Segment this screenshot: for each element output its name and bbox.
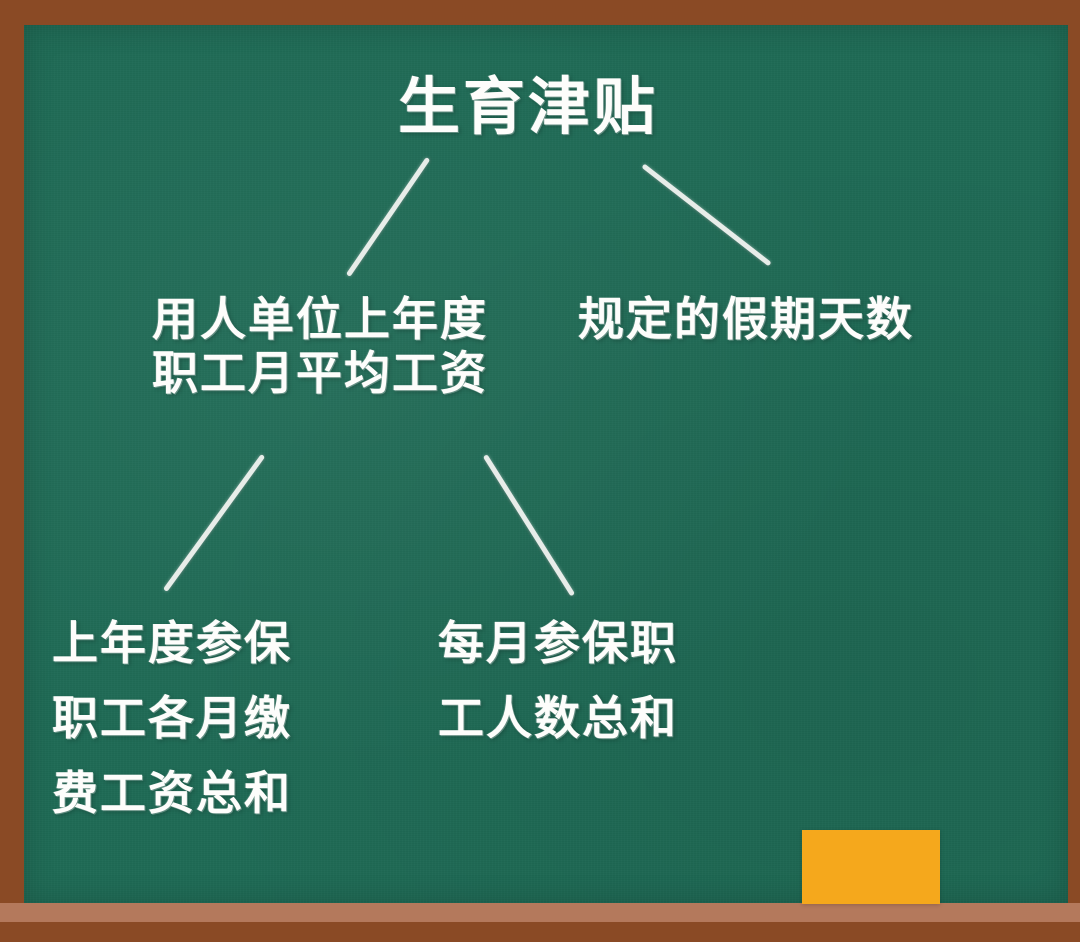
node-right-top-line1: 规定的假期天数 — [578, 292, 914, 346]
node-left-bottom: 上年度参保 职工各月缴 费工资总和 — [52, 606, 292, 831]
node-left-bottom-line1: 上年度参保 — [52, 606, 292, 681]
node-right-bottom-line1: 每月参保职 — [438, 606, 678, 681]
page-title: 生育津贴 — [398, 72, 658, 142]
node-left-top-line1: 用人单位上年度 — [152, 292, 488, 346]
node-right-top: 规定的假期天数 — [578, 292, 914, 346]
node-right-bottom-line2: 工人数总和 — [438, 681, 678, 756]
node-right-bottom: 每月参保职 工人数总和 — [438, 606, 678, 756]
node-left-top-line2: 职工月平均工资 — [152, 346, 488, 400]
chalk-tray — [0, 903, 1080, 922]
node-left-top: 用人单位上年度 职工月平均工资 — [152, 292, 488, 400]
chalkboard-infographic: 生育津贴 用人单位上年度 职工月平均工资 规定的假期天数 上年度参保 职工各月缴… — [0, 0, 1080, 942]
node-left-bottom-line2: 职工各月缴 — [52, 681, 292, 756]
yellow-accent-card — [802, 830, 940, 904]
node-left-bottom-line3: 费工资总和 — [52, 756, 292, 831]
